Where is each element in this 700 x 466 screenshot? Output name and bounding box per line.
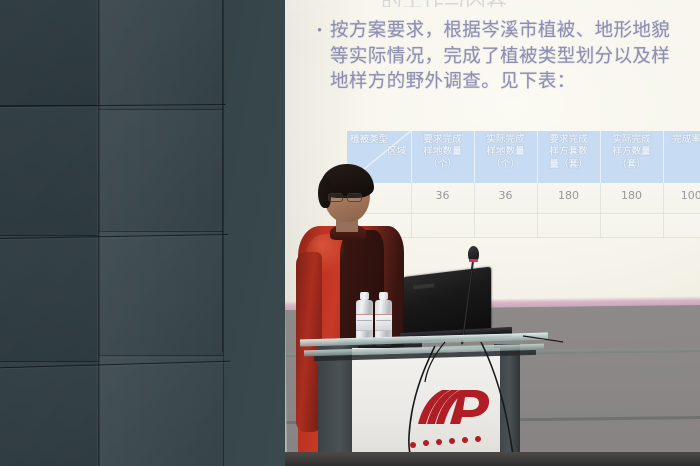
- cell-empty: [411, 213, 474, 237]
- bullet-dot-icon: [315, 27, 324, 33]
- stage-floor: [285, 452, 700, 466]
- cable: [481, 342, 515, 466]
- header-line: 样方套数: [549, 146, 587, 157]
- corner-label-bottom: 区域: [350, 146, 410, 158]
- wall-panel: [99, 356, 224, 466]
- header-line: 实际完成: [612, 134, 650, 145]
- cable: [523, 336, 563, 342]
- cables: [285, 250, 700, 466]
- wall-panel: [99, 0, 224, 110]
- eyeglass-lens-left: [328, 193, 343, 202]
- cell-required-plots: 36: [411, 183, 474, 213]
- wall-seam-vertical: [222, 0, 223, 352]
- table-header-cell: 实际完成 样地数量 （个）: [474, 131, 537, 183]
- header-line: 要求完成: [549, 134, 587, 145]
- corner-label-top: 植被类型: [350, 134, 410, 146]
- header-line: 样地数量: [423, 146, 461, 157]
- header-line: （个）: [491, 159, 520, 170]
- header-line: 实际完成: [486, 134, 524, 145]
- wall-panel: [0, 236, 100, 362]
- cell-actual-plots: 36: [474, 183, 537, 213]
- eyeglass-lens-right: [347, 193, 362, 202]
- cell-empty: [474, 213, 537, 237]
- table-header-cell: 完成率%: [663, 131, 700, 183]
- header-line: 样方数量: [612, 146, 650, 157]
- wall-panel: [99, 232, 224, 356]
- bullet-line: 等实际情况，完成了植被类型划分以及样: [330, 44, 670, 70]
- cell-completion-rate: 100: [663, 183, 700, 213]
- slide-bullet: 按方案要求，根据岑溪市植被、地形地貌 等实际情况，完成了植被类型划分以及样 地样…: [315, 18, 700, 95]
- table-header-cell: 要求完成 样方套数 量（套）: [537, 131, 600, 183]
- bullet-line: 地样方的野外调查。见下表：: [330, 69, 670, 95]
- wall-panel: [99, 110, 224, 232]
- slide-cut-off-heading: 的工作与内容: [381, 0, 649, 7]
- screenshot-root: 的工作与内容 按方案要求，根据岑溪市植被、地形地貌 等实际情况，完成了植被类型划…: [0, 0, 700, 466]
- cell-empty: [537, 213, 600, 237]
- cell-required-quadrat-sets: 180: [537, 183, 600, 213]
- header-line: （套）: [617, 159, 646, 170]
- table-header-cell: 实际完成 样方数量 （套）: [600, 131, 663, 183]
- header-line: 要求完成: [423, 134, 461, 145]
- wall-panel: [0, 106, 100, 236]
- slide-bullet-text: 按方案要求，根据岑溪市植被、地形地貌 等实际情况，完成了植被类型划分以及样 地样…: [330, 18, 670, 95]
- cell-empty: [663, 213, 700, 237]
- header-line: 样地数量: [486, 146, 524, 157]
- table-header-cell: 要求完成 样地数量 （个）: [411, 131, 474, 183]
- header-line: 完成率%: [672, 134, 700, 145]
- slide-cut-off-heading-text: 的工作与内容: [381, 0, 649, 7]
- wall-panel: [0, 0, 100, 106]
- wall-panel: [0, 362, 100, 466]
- header-line: 量（套）: [549, 159, 587, 170]
- acoustic-wall: [0, 0, 300, 466]
- eyeglasses-icon: [328, 193, 370, 202]
- wall-seam-vertical: [98, 0, 99, 466]
- cell-empty: [600, 213, 663, 237]
- header-line: （个）: [428, 159, 457, 170]
- cell-actual-quadrats: 180: [600, 183, 663, 213]
- bullet-line: 按方案要求，根据岑溪市植被、地形地貌: [330, 18, 670, 44]
